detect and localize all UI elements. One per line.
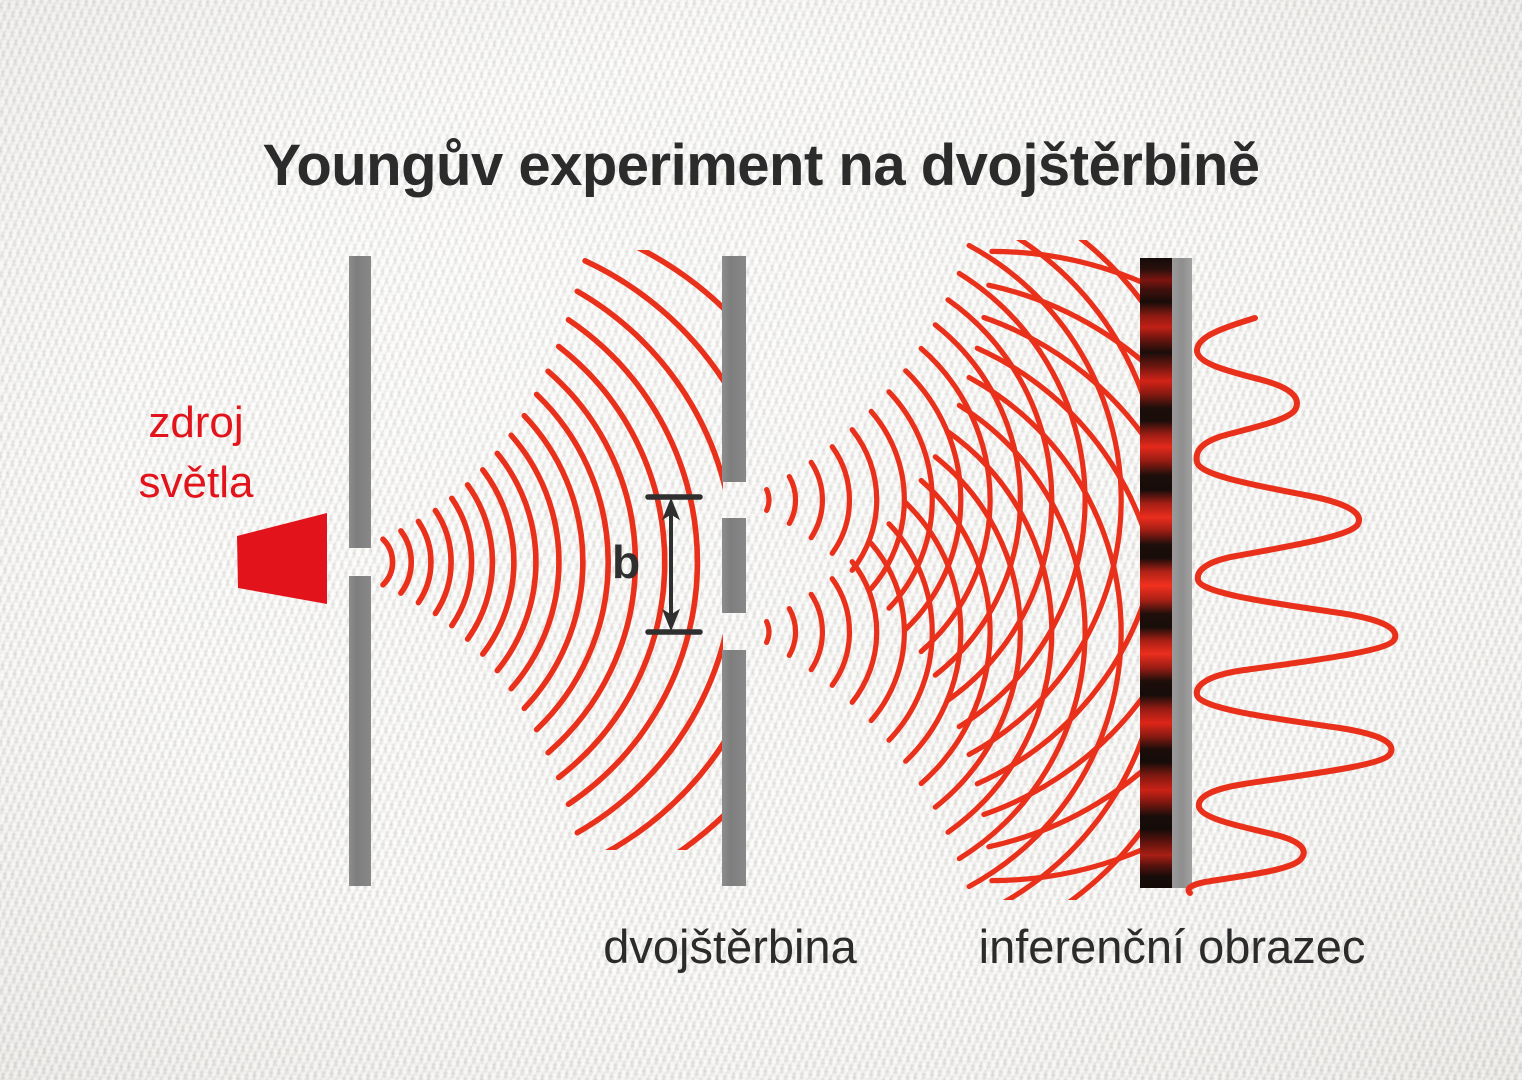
screen-plate <box>1172 258 1192 888</box>
slit-separation-label: b <box>612 536 640 588</box>
fringe-pattern-strip <box>1140 258 1173 888</box>
wavefronts-lower-slit <box>767 251 1373 1012</box>
interference-pattern-caption: inferenční obrazec <box>979 920 1366 973</box>
page-title: Youngův experiment na dvojštěrbině <box>262 133 1259 198</box>
double-slit-caption: dvojštěrbina <box>603 920 857 973</box>
light-source-emitter <box>237 513 327 604</box>
wavefronts-upper-slit <box>767 119 1373 880</box>
figure-canvas: Youngův experiment na dvojštěrbině zdroj… <box>0 0 1522 1080</box>
interference-wavefronts <box>767 119 1373 1012</box>
single-slit-barrier <box>349 256 371 886</box>
youngs-double-slit-diagram: Youngův experiment na dvojštěrbině zdroj… <box>0 0 1522 1080</box>
intensity-curve <box>1189 318 1396 893</box>
source-label-line2: světla <box>139 458 254 507</box>
source-label-line1: zdroj <box>148 398 243 447</box>
double-slit-barrier <box>722 256 746 886</box>
interference-screen <box>1140 258 1192 888</box>
